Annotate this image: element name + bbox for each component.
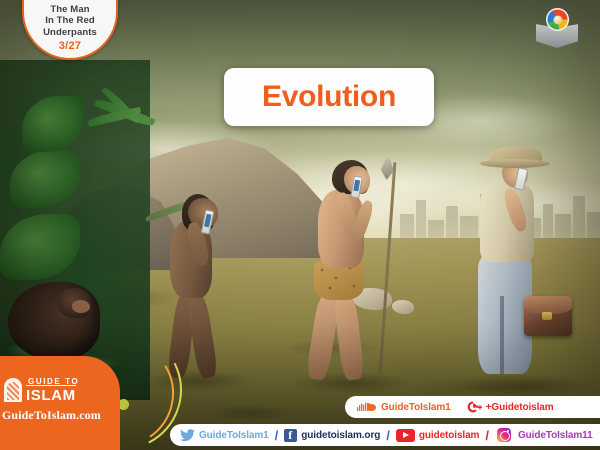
spear-shaft [379,162,397,374]
modern-man-figure [468,146,578,384]
episode-counter: 3/27 [59,40,82,52]
social-link-soundcloud[interactable]: GuideToIslam1 [357,401,451,413]
page-title: Evolution [262,80,396,114]
brand-line-main: ISLAM [26,385,76,404]
soundcloud-icon [357,401,377,413]
separator: / [485,428,489,443]
episode-title: The Man In The Red Underpants [43,4,97,39]
youtube-icon [396,429,415,442]
brand-logo: GUIDE TO ISLAM GuideToIslam.com [0,356,120,450]
brand-block: GUIDE TO ISLAM GuideToIslam.com [0,356,120,450]
social-link-facebook[interactable]: guidetoislam.org [284,429,380,442]
hat-brim [480,159,550,168]
social-link-googleplus[interactable]: +Guidetoislam [467,400,554,414]
brand-website-url: GuideToIslam.com [2,408,101,423]
social-link-instagram[interactable]: GuideToIslam11 [497,428,593,442]
social-label-facebook: guidetoislam.org [301,430,380,441]
social-label-soundcloud: GuideToIslam1 [381,402,451,413]
separator: / [386,428,390,443]
hominid-figure [150,196,236,382]
social-label-instagram: GuideToIslam11 [518,430,593,441]
twitter-icon [180,429,195,442]
episode-title-line-3: Underpants [43,27,97,39]
channel-emblem [534,6,580,50]
googleplus-icon [467,400,482,414]
modern-man-leg-seam [500,296,504,374]
facebook-icon [284,429,297,442]
globe-icon [546,8,569,31]
social-label-youtube: guidetoislam [419,430,479,441]
mosque-arch-icon [4,378,22,402]
caveman-figure [300,160,404,382]
slide-canvas: The Man In The Red Underpants 3/27 Evolu… [0,0,600,450]
separator: / [275,428,279,443]
social-link-youtube[interactable]: guidetoislam [396,429,479,442]
episode-title-line-1: The Man [43,4,97,16]
caveman-leg [333,293,365,381]
social-bar-secondary: GuideToIslam1 / guidetoislam.org / guide… [170,424,600,446]
instagram-icon [497,428,511,442]
social-link-twitter[interactable]: GuideToIslam1 [180,429,269,442]
title-card: Evolution [224,68,434,126]
briefcase-clasp [542,312,552,320]
episode-title-line-2: In The Red [43,15,97,27]
social-bar-primary: GuideToIslam1 +Guidetoislam [345,396,600,418]
social-label-twitter: GuideToIslam1 [199,430,269,441]
chimpanzee-face [72,300,90,313]
social-label-googleplus: +Guidetoislam [486,402,554,413]
